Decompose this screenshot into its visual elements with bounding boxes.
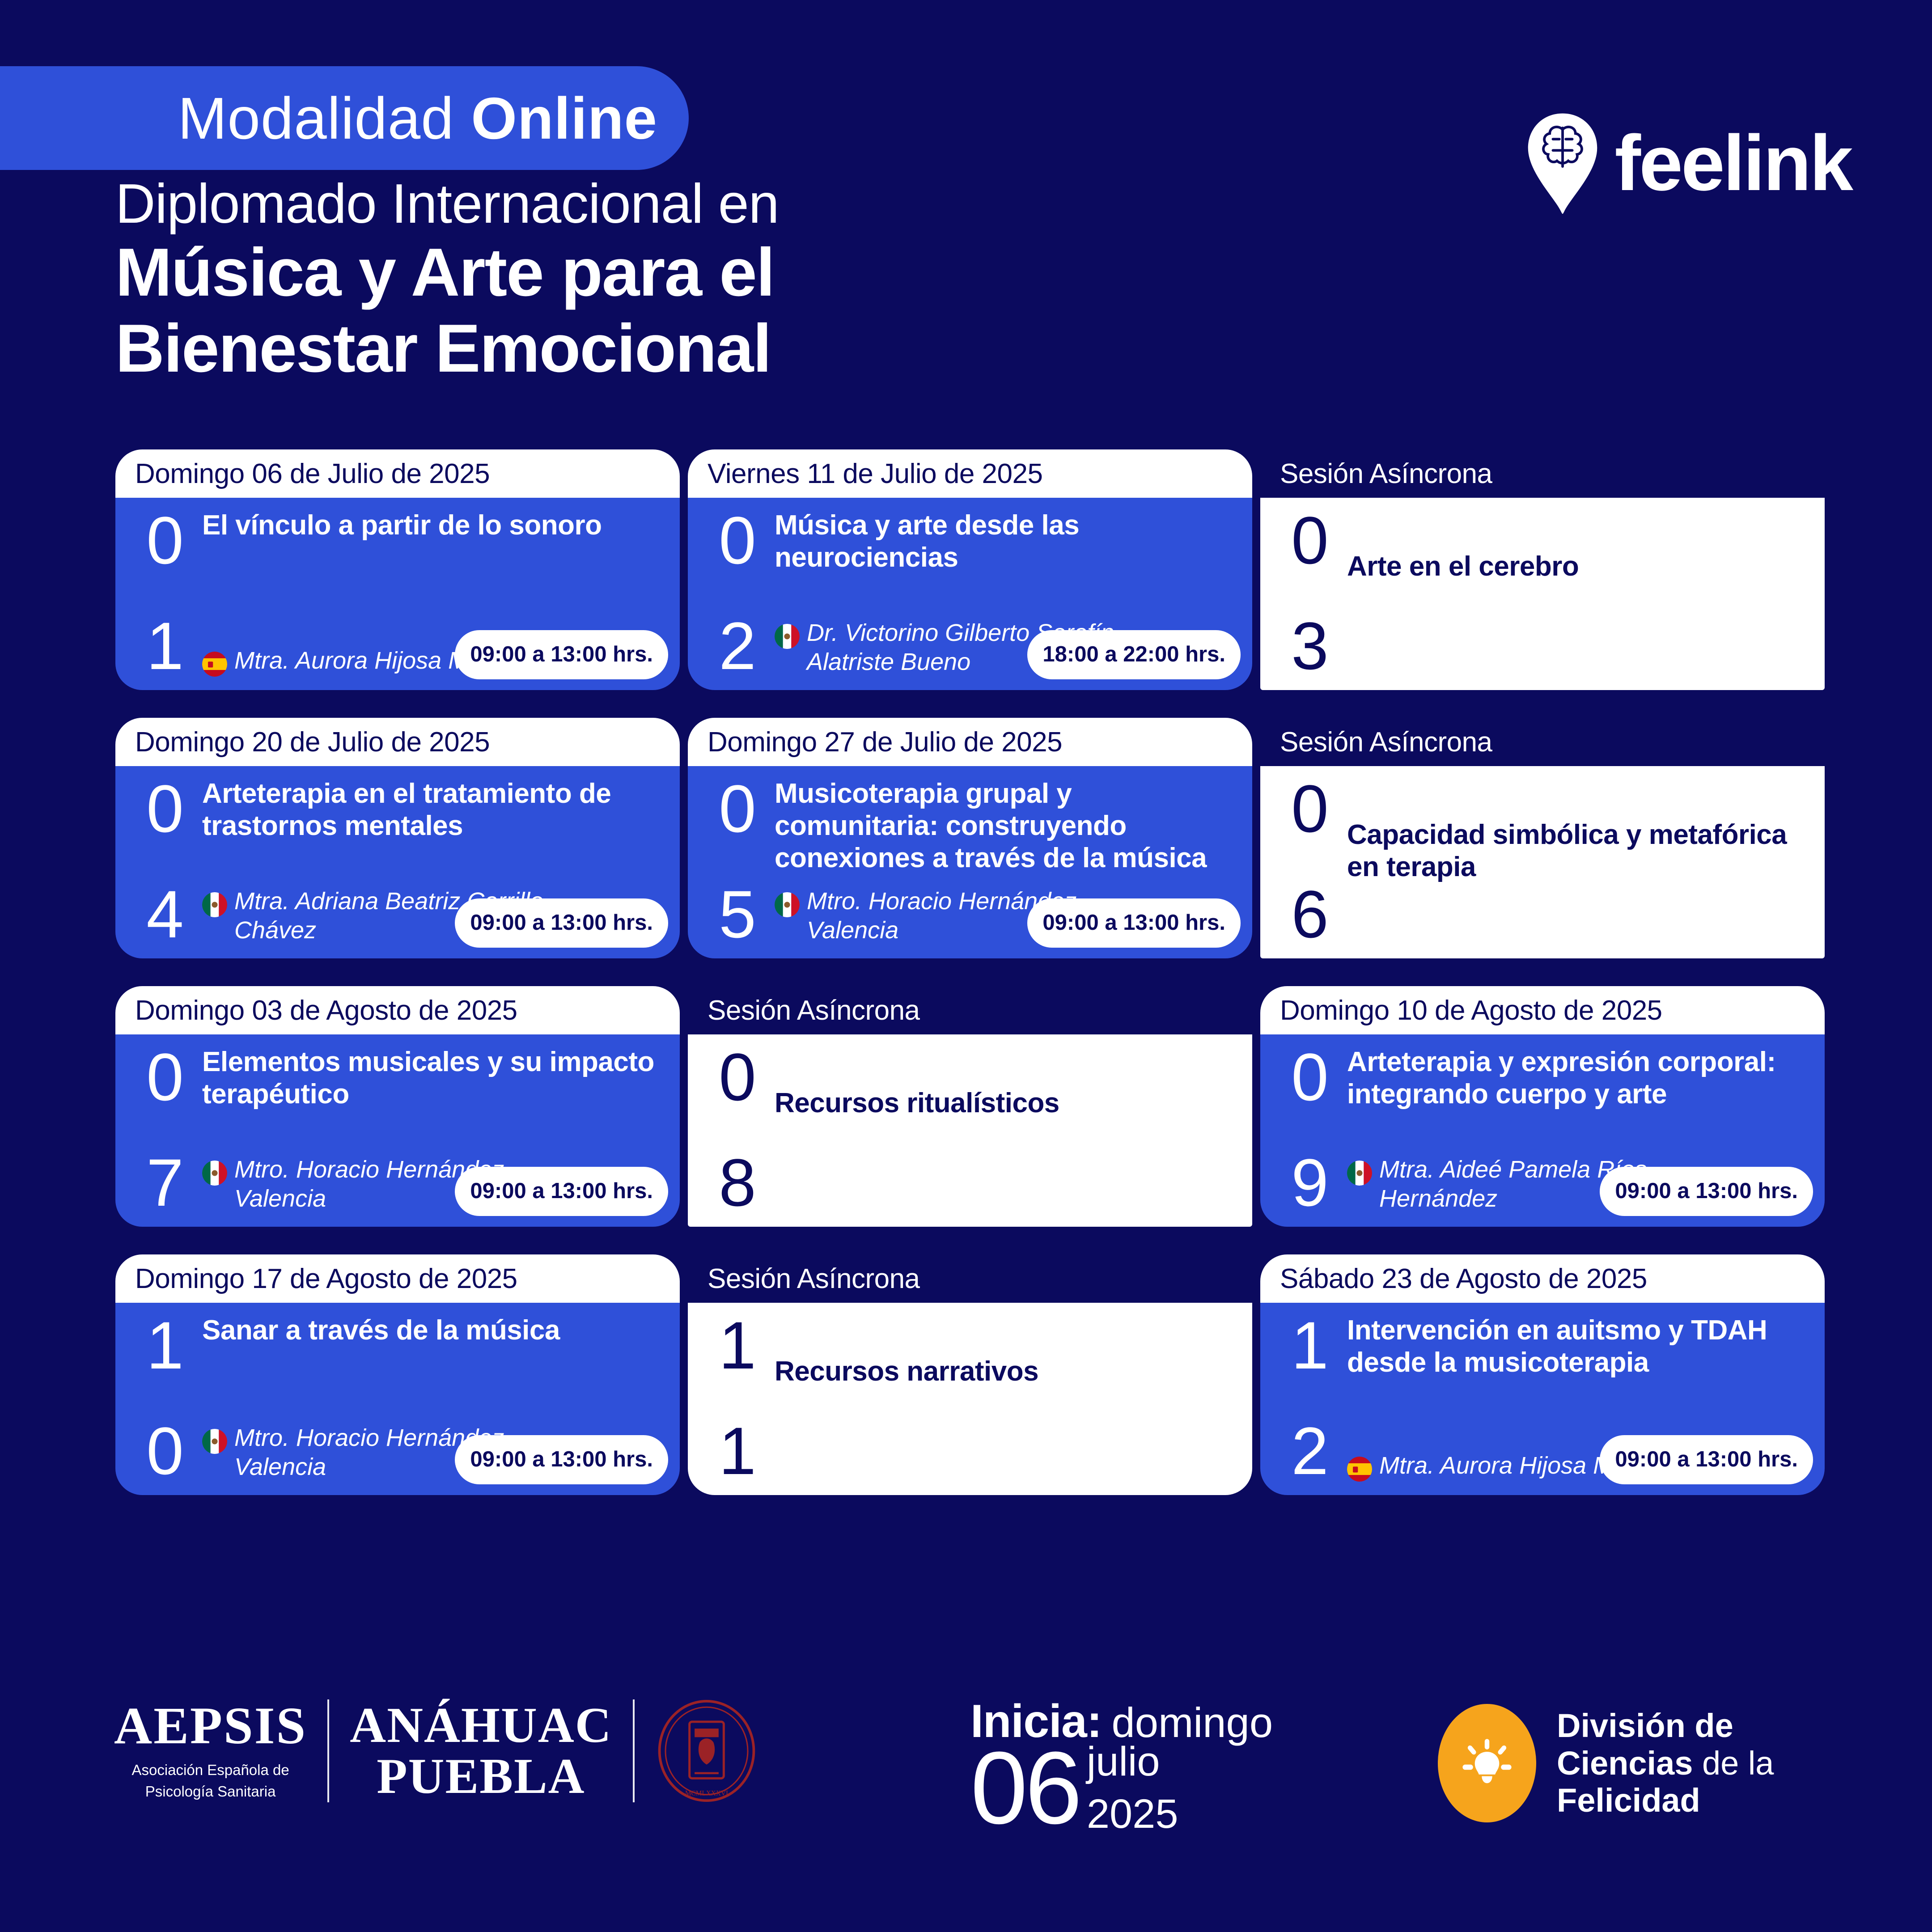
session-number-digit-1: 1 <box>1291 1314 1328 1376</box>
session-number: 03 <box>1276 509 1343 677</box>
brand-logo: feelink <box>1522 112 1851 215</box>
session-number: 01 <box>131 509 199 677</box>
session-number-digit-2: 3 <box>1291 615 1328 677</box>
session-number-digit-1: 0 <box>719 509 756 571</box>
session-number-digit-1: 1 <box>719 1314 756 1376</box>
session-number-digit-2: 9 <box>1291 1152 1328 1213</box>
session-number: 07 <box>131 1046 199 1213</box>
session-info: Arte en el cerebro <box>1343 509 1809 677</box>
flag-spain-icon <box>1347 1457 1372 1482</box>
session-number: 06 <box>1276 778 1343 945</box>
session-card-body: 09Arteterapia y expresión corporal: inte… <box>1260 1034 1825 1227</box>
session-date: Sesión Asíncrona <box>708 1263 920 1295</box>
session-card[interactable]: Sesión Asíncrona08Recursos ritualísticos <box>688 986 1252 1227</box>
flag-mexico-icon <box>1347 1161 1372 1186</box>
session-number-digit-2: 8 <box>719 1152 756 1213</box>
session-topic: Arteterapia en el tratamiento de trastor… <box>202 778 664 842</box>
session-topic: Música y arte desde las neurociencias <box>775 509 1236 574</box>
session-card[interactable]: Domingo 20 de Julio de 202504Arteterapia… <box>115 718 680 958</box>
session-card[interactable]: Sábado 23 de Agosto de 202512Intervenció… <box>1260 1254 1825 1495</box>
start-year: 2025 <box>1087 1792 1178 1836</box>
session-time-badge: 09:00 a 13:00 hrs. <box>1600 1435 1813 1484</box>
session-card-body: 07Elementos musicales y su impacto terap… <box>115 1034 680 1227</box>
session-number-digit-1: 0 <box>146 778 183 839</box>
session-card-body: 02Música y arte desde las neurocienciasD… <box>688 498 1252 690</box>
start-day-number: 06 <box>970 1744 1080 1832</box>
session-number: 02 <box>704 509 771 677</box>
session-card-body: 01El vínculo a partir de lo sonoroMtra. … <box>115 498 680 690</box>
session-date: Domingo 20 de Julio de 2025 <box>135 726 490 758</box>
session-number-digit-2: 2 <box>1291 1420 1328 1482</box>
anahuac-line-2: PUEBLA <box>377 1751 585 1802</box>
flag-mexico-icon <box>202 892 227 917</box>
session-number-digit-1: 0 <box>1291 509 1328 571</box>
session-card-header: Domingo 17 de Agosto de 2025 <box>115 1254 680 1303</box>
session-time-badge: 09:00 a 13:00 hrs. <box>1027 898 1241 948</box>
session-card-header: Domingo 03 de Agosto de 2025 <box>115 986 680 1034</box>
session-card-header: Domingo 10 de Agosto de 2025 <box>1260 986 1825 1034</box>
uat-seal-icon: MCMLXXXVI <box>655 1699 758 1802</box>
session-number-digit-2: 1 <box>146 615 183 677</box>
session-number-digit-2: 5 <box>719 883 756 945</box>
brand-name: feelink <box>1614 124 1851 203</box>
session-number: 08 <box>704 1046 771 1213</box>
flag-spain-icon <box>202 652 227 677</box>
session-topic: Recursos narrativos <box>775 1356 1236 1388</box>
logo-divider-1 <box>327 1699 329 1802</box>
session-card-body: 12Intervención en auitsmo y TDAH desde l… <box>1260 1303 1825 1495</box>
session-date: Domingo 03 de Agosto de 2025 <box>135 995 517 1026</box>
session-number-digit-2: 4 <box>146 883 183 945</box>
session-card[interactable]: Domingo 06 de Julio de 202501El vínculo … <box>115 449 680 690</box>
session-number-digit-2: 0 <box>146 1420 183 1482</box>
session-card-header: Domingo 27 de Julio de 2025 <box>688 718 1252 766</box>
start-month: julio <box>1087 1740 1178 1784</box>
session-card-body: 06Capacidad simbólica y metafórica en te… <box>1260 766 1825 958</box>
session-card-header: Sábado 23 de Agosto de 2025 <box>1260 1254 1825 1303</box>
session-number-digit-1: 0 <box>146 509 183 571</box>
brain-pin-icon <box>1522 112 1603 215</box>
division-line-2: Ciencias de la <box>1557 1745 1774 1782</box>
flag-mexico-icon <box>202 1429 227 1454</box>
division-line-1: División de <box>1557 1707 1774 1745</box>
session-card[interactable]: Sesión Asíncrona03Arte en el cerebro <box>1260 449 1825 690</box>
session-topic: Musicoterapia grupal y comunitaria: cons… <box>775 778 1236 874</box>
session-card-body: 03Arte en el cerebro <box>1260 498 1825 690</box>
session-topic: Capacidad simbólica y metafórica en tera… <box>1347 819 1809 883</box>
session-card-header: Sesión Asíncrona <box>1260 449 1825 498</box>
session-date: Sesión Asíncrona <box>1280 458 1492 490</box>
session-number-digit-1: 0 <box>719 1046 756 1108</box>
session-date: Domingo 10 de Agosto de 2025 <box>1280 995 1662 1026</box>
session-card[interactable]: Viernes 11 de Julio de 202502Música y ar… <box>688 449 1252 690</box>
partner-logos: AEPSIS Asociación Española de Psicología… <box>114 1699 758 1802</box>
schedule-grid: Domingo 06 de Julio de 202501El vínculo … <box>115 449 1824 1495</box>
svg-text:MCMLXXXVI: MCMLXXXVI <box>685 1790 728 1797</box>
footer: AEPSIS Asociación Española de Psicología… <box>0 1646 1932 1932</box>
session-time-badge: 09:00 a 13:00 hrs. <box>455 898 668 948</box>
session-date: Domingo 17 de Agosto de 2025 <box>135 1263 517 1295</box>
aepsis-subtitle: Asociación Española de Psicología Sanita… <box>131 1759 289 1802</box>
anahuac-logo: ANÁHUAC PUEBLA <box>350 1700 612 1802</box>
aepsis-logo: AEPSIS Asociación Española de Psicología… <box>114 1699 307 1802</box>
modality-label: Modalidad Online <box>178 85 657 152</box>
division-line-2-strong: Ciencias <box>1557 1745 1693 1782</box>
session-number: 09 <box>1276 1046 1343 1213</box>
session-number-digit-2: 7 <box>146 1152 183 1213</box>
session-time-badge: 09:00 a 13:00 hrs. <box>455 630 668 679</box>
session-topic: Arteterapia y expresión corporal: integr… <box>1347 1046 1809 1110</box>
flag-mexico-icon <box>775 624 800 649</box>
division-badge <box>1438 1704 1536 1822</box>
session-number-digit-1: 0 <box>146 1046 183 1108</box>
session-topic: Recursos ritualísticos <box>775 1087 1236 1119</box>
session-number-digit-1: 1 <box>146 1314 183 1376</box>
session-date: Sesión Asíncrona <box>1280 726 1492 758</box>
session-card-body: 08Recursos ritualísticos <box>688 1034 1252 1227</box>
modality-prefix: Modalidad <box>178 85 471 151</box>
aepsis-subtitle-line-1: Asociación Española de <box>131 1759 289 1781</box>
logo-divider-2 <box>633 1699 635 1802</box>
session-number: 05 <box>704 778 771 945</box>
session-card-header: Viernes 11 de Julio de 2025 <box>688 449 1252 498</box>
flag-mexico-icon <box>775 892 800 917</box>
session-info: Capacidad simbólica y metafórica en tera… <box>1343 778 1809 945</box>
lightbulb-smile-icon <box>1458 1734 1516 1792</box>
title-line-1: Diplomado Internacional en <box>115 174 779 234</box>
session-number: 12 <box>1276 1314 1343 1482</box>
session-card-header: Sesión Asíncrona <box>688 986 1252 1034</box>
aepsis-subtitle-line-2: Psicología Sanitaria <box>131 1781 289 1802</box>
session-date: Domingo 27 de Julio de 2025 <box>708 726 1062 758</box>
session-card[interactable]: Sesión Asíncrona11Recursos narrativos <box>688 1254 1252 1495</box>
division-text: División de Ciencias de la Felicidad <box>1557 1707 1774 1819</box>
session-topic: Elementos musicales y su impacto terapéu… <box>202 1046 664 1110</box>
session-time-badge: 09:00 a 13:00 hrs. <box>455 1435 668 1484</box>
session-number-digit-1: 0 <box>1291 1046 1328 1108</box>
session-number-digit-1: 0 <box>1291 778 1328 839</box>
session-time-badge: 18:00 a 22:00 hrs. <box>1027 630 1241 679</box>
session-card-header: Domingo 06 de Julio de 2025 <box>115 449 680 498</box>
session-date: Sesión Asíncrona <box>708 995 920 1026</box>
session-card-header: Domingo 20 de Julio de 2025 <box>115 718 680 766</box>
session-card[interactable]: Sesión Asíncrona06Capacidad simbólica y … <box>1260 718 1825 958</box>
session-topic: Intervención en auitsmo y TDAH desde la … <box>1347 1314 1809 1379</box>
session-card[interactable]: Domingo 17 de Agosto de 202510Sanar a tr… <box>115 1254 680 1495</box>
session-time-badge: 09:00 a 13:00 hrs. <box>1600 1167 1813 1216</box>
session-topic: El vínculo a partir de lo sonoro <box>202 509 664 542</box>
session-number: 10 <box>131 1314 199 1482</box>
session-card[interactable]: Domingo 03 de Agosto de 202507Elementos … <box>115 986 680 1227</box>
session-topic: Sanar a través de la música <box>202 1314 664 1347</box>
session-number-digit-2: 1 <box>719 1420 756 1482</box>
session-date: Viernes 11 de Julio de 2025 <box>708 458 1042 490</box>
session-card-body: 10Sanar a través de la músicaMtro. Horac… <box>115 1303 680 1495</box>
start-date-block: Inicia: domingo 06 julio 2025 <box>970 1695 1273 1835</box>
session-card[interactable]: Domingo 10 de Agosto de 202509Arteterapi… <box>1260 986 1825 1227</box>
title-line-3: Bienestar Emocional <box>115 310 779 386</box>
session-card-header: Sesión Asíncrona <box>1260 718 1825 766</box>
session-date: Domingo 06 de Julio de 2025 <box>135 458 490 490</box>
anahuac-line-1: ANÁHUAC <box>350 1700 612 1751</box>
flag-mexico-icon <box>202 1161 227 1186</box>
session-info: Recursos ritualísticos <box>771 1046 1236 1213</box>
title-line-2: Música y Arte para el <box>115 234 779 310</box>
page-title: Diplomado Internacional en Música y Arte… <box>115 174 779 386</box>
division-line-2-rest: de la <box>1693 1745 1774 1782</box>
division-logo: División de Ciencias de la Felicidad <box>1438 1704 1774 1822</box>
modality-strong: Online <box>471 85 657 151</box>
session-number-digit-2: 6 <box>1291 883 1328 945</box>
session-time-badge: 09:00 a 13:00 hrs. <box>455 1167 668 1216</box>
session-number: 04 <box>131 778 199 945</box>
session-number: 11 <box>704 1314 771 1482</box>
aepsis-name: AEPSIS <box>114 1699 307 1752</box>
modality-pill: Modalidad Online <box>0 66 689 170</box>
session-card-header: Sesión Asíncrona <box>688 1254 1252 1303</box>
division-line-3: Felicidad <box>1557 1782 1774 1819</box>
session-card-body: 04Arteterapia en el tratamiento de trast… <box>115 766 680 958</box>
session-card[interactable]: Domingo 27 de Julio de 202505Musicoterap… <box>688 718 1252 958</box>
session-number-digit-1: 0 <box>719 778 756 839</box>
session-card-body: 05Musicoterapia grupal y comunitaria: co… <box>688 766 1252 958</box>
session-topic: Arte en el cerebro <box>1347 551 1809 583</box>
session-info: Recursos narrativos <box>771 1314 1236 1482</box>
session-date: Sábado 23 de Agosto de 2025 <box>1280 1263 1647 1295</box>
session-card-body: 11Recursos narrativos <box>688 1303 1252 1495</box>
session-number-digit-2: 2 <box>719 615 756 677</box>
